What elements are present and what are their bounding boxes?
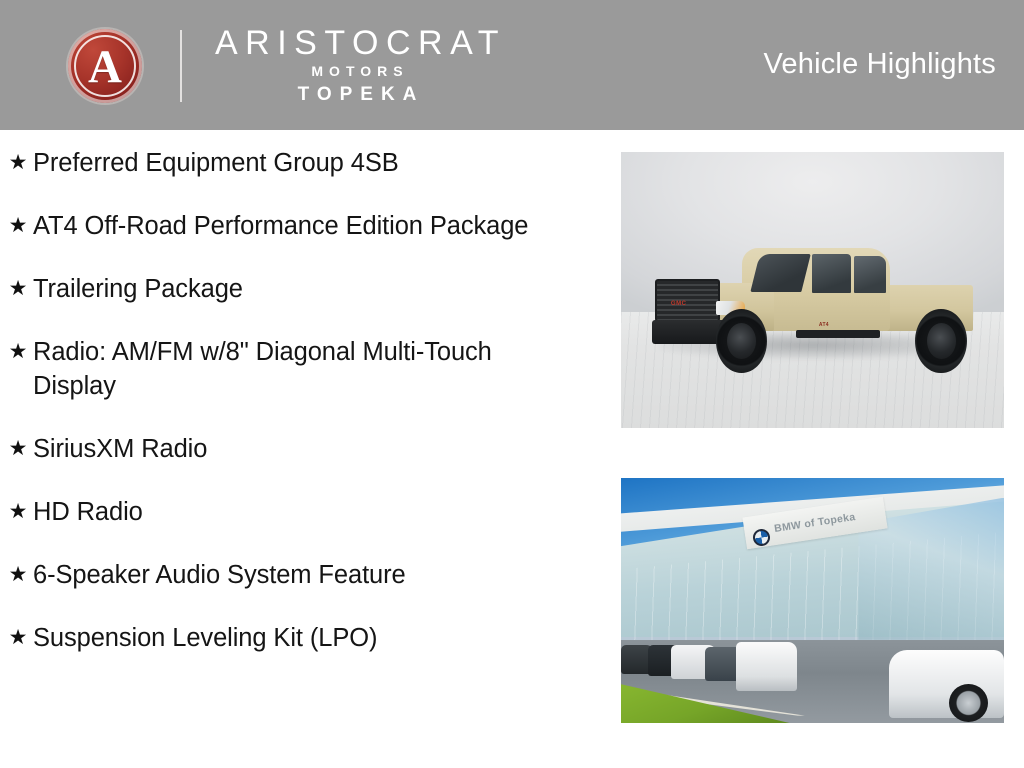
highlight-item: ★SiriusXM Radio — [0, 432, 586, 466]
truck-bumper — [652, 320, 726, 344]
highlight-item-label: Radio: AM/FM w/8" Diagonal Multi-Touch D… — [33, 335, 553, 403]
truck-body: GMC AT4 — [652, 213, 974, 373]
vehicle-photo: GMC AT4 — [621, 152, 1004, 428]
star-bullet-icon: ★ — [0, 335, 33, 369]
star-bullet-icon: ★ — [0, 621, 33, 655]
star-bullet-icon: ★ — [0, 272, 33, 306]
aristocrat-medallion-icon: A — [68, 29, 142, 103]
highlight-item-label: 6-Speaker Audio System Feature — [33, 558, 553, 592]
truck-grille — [655, 279, 720, 321]
highlight-item-label: Preferred Equipment Group 4SB — [33, 146, 553, 180]
star-bullet-icon: ★ — [0, 209, 33, 243]
highlight-item-label: HD Radio — [33, 495, 553, 529]
dealership-sign-text: BMW of Topeka — [773, 511, 856, 535]
truck-side-badge: AT4 — [819, 322, 829, 328]
highlight-item: ★Suspension Leveling Kit (LPO) — [0, 621, 586, 655]
truck-rear-window — [854, 256, 886, 293]
highlight-item: ★HD Radio — [0, 495, 586, 529]
page-header: A ARISTOCRAT MOTORS TOPEKA Vehicle Highl… — [0, 0, 1024, 130]
brand-lockup: A ARISTOCRAT MOTORS TOPEKA — [68, 28, 506, 104]
lot-car-foreground — [889, 650, 1004, 719]
truck-running-board — [796, 330, 880, 338]
brand-name: ARISTOCRAT — [208, 26, 506, 61]
highlight-item-label: Suspension Leveling Kit (LPO) — [33, 621, 553, 655]
highlight-item-label: SiriusXM Radio — [33, 432, 553, 466]
truck-front-wheel — [716, 309, 767, 373]
star-bullet-icon: ★ — [0, 432, 33, 466]
brand-city: TOPEKA — [290, 82, 425, 108]
brand-divider — [180, 30, 182, 102]
highlight-item: ★6-Speaker Audio System Feature — [0, 558, 586, 592]
brand-subtitle: MOTORS — [305, 61, 408, 82]
truck-rear-wheel — [915, 309, 966, 373]
truck-front-window — [812, 254, 851, 292]
truck-grille-badge: GMC — [671, 301, 687, 307]
highlight-item: ★Trailering Package — [0, 272, 586, 306]
truck-windshield — [750, 254, 811, 292]
dealership-photo: BMW of Topeka — [621, 478, 1004, 723]
brand-wordmark: ARISTOCRAT MOTORS TOPEKA — [208, 24, 506, 107]
highlight-item: ★AT4 Off-Road Performance Edition Packag… — [0, 209, 586, 243]
highlight-item-label: AT4 Off-Road Performance Edition Package — [33, 209, 553, 243]
vehicle-highlights-list: ★Preferred Equipment Group 4SB★AT4 Off-R… — [0, 146, 586, 655]
star-bullet-icon: ★ — [0, 558, 33, 592]
highlight-item: ★Radio: AM/FM w/8" Diagonal Multi-Touch … — [0, 335, 586, 403]
star-bullet-icon: ★ — [0, 146, 33, 180]
highlight-item-label: Trailering Package — [33, 272, 553, 306]
star-bullet-icon: ★ — [0, 495, 33, 529]
lot-car — [736, 642, 797, 691]
page-title: Vehicle Highlights — [763, 48, 996, 81]
medallion-letter: A — [88, 44, 122, 91]
highlight-item: ★Preferred Equipment Group 4SB — [0, 146, 586, 180]
